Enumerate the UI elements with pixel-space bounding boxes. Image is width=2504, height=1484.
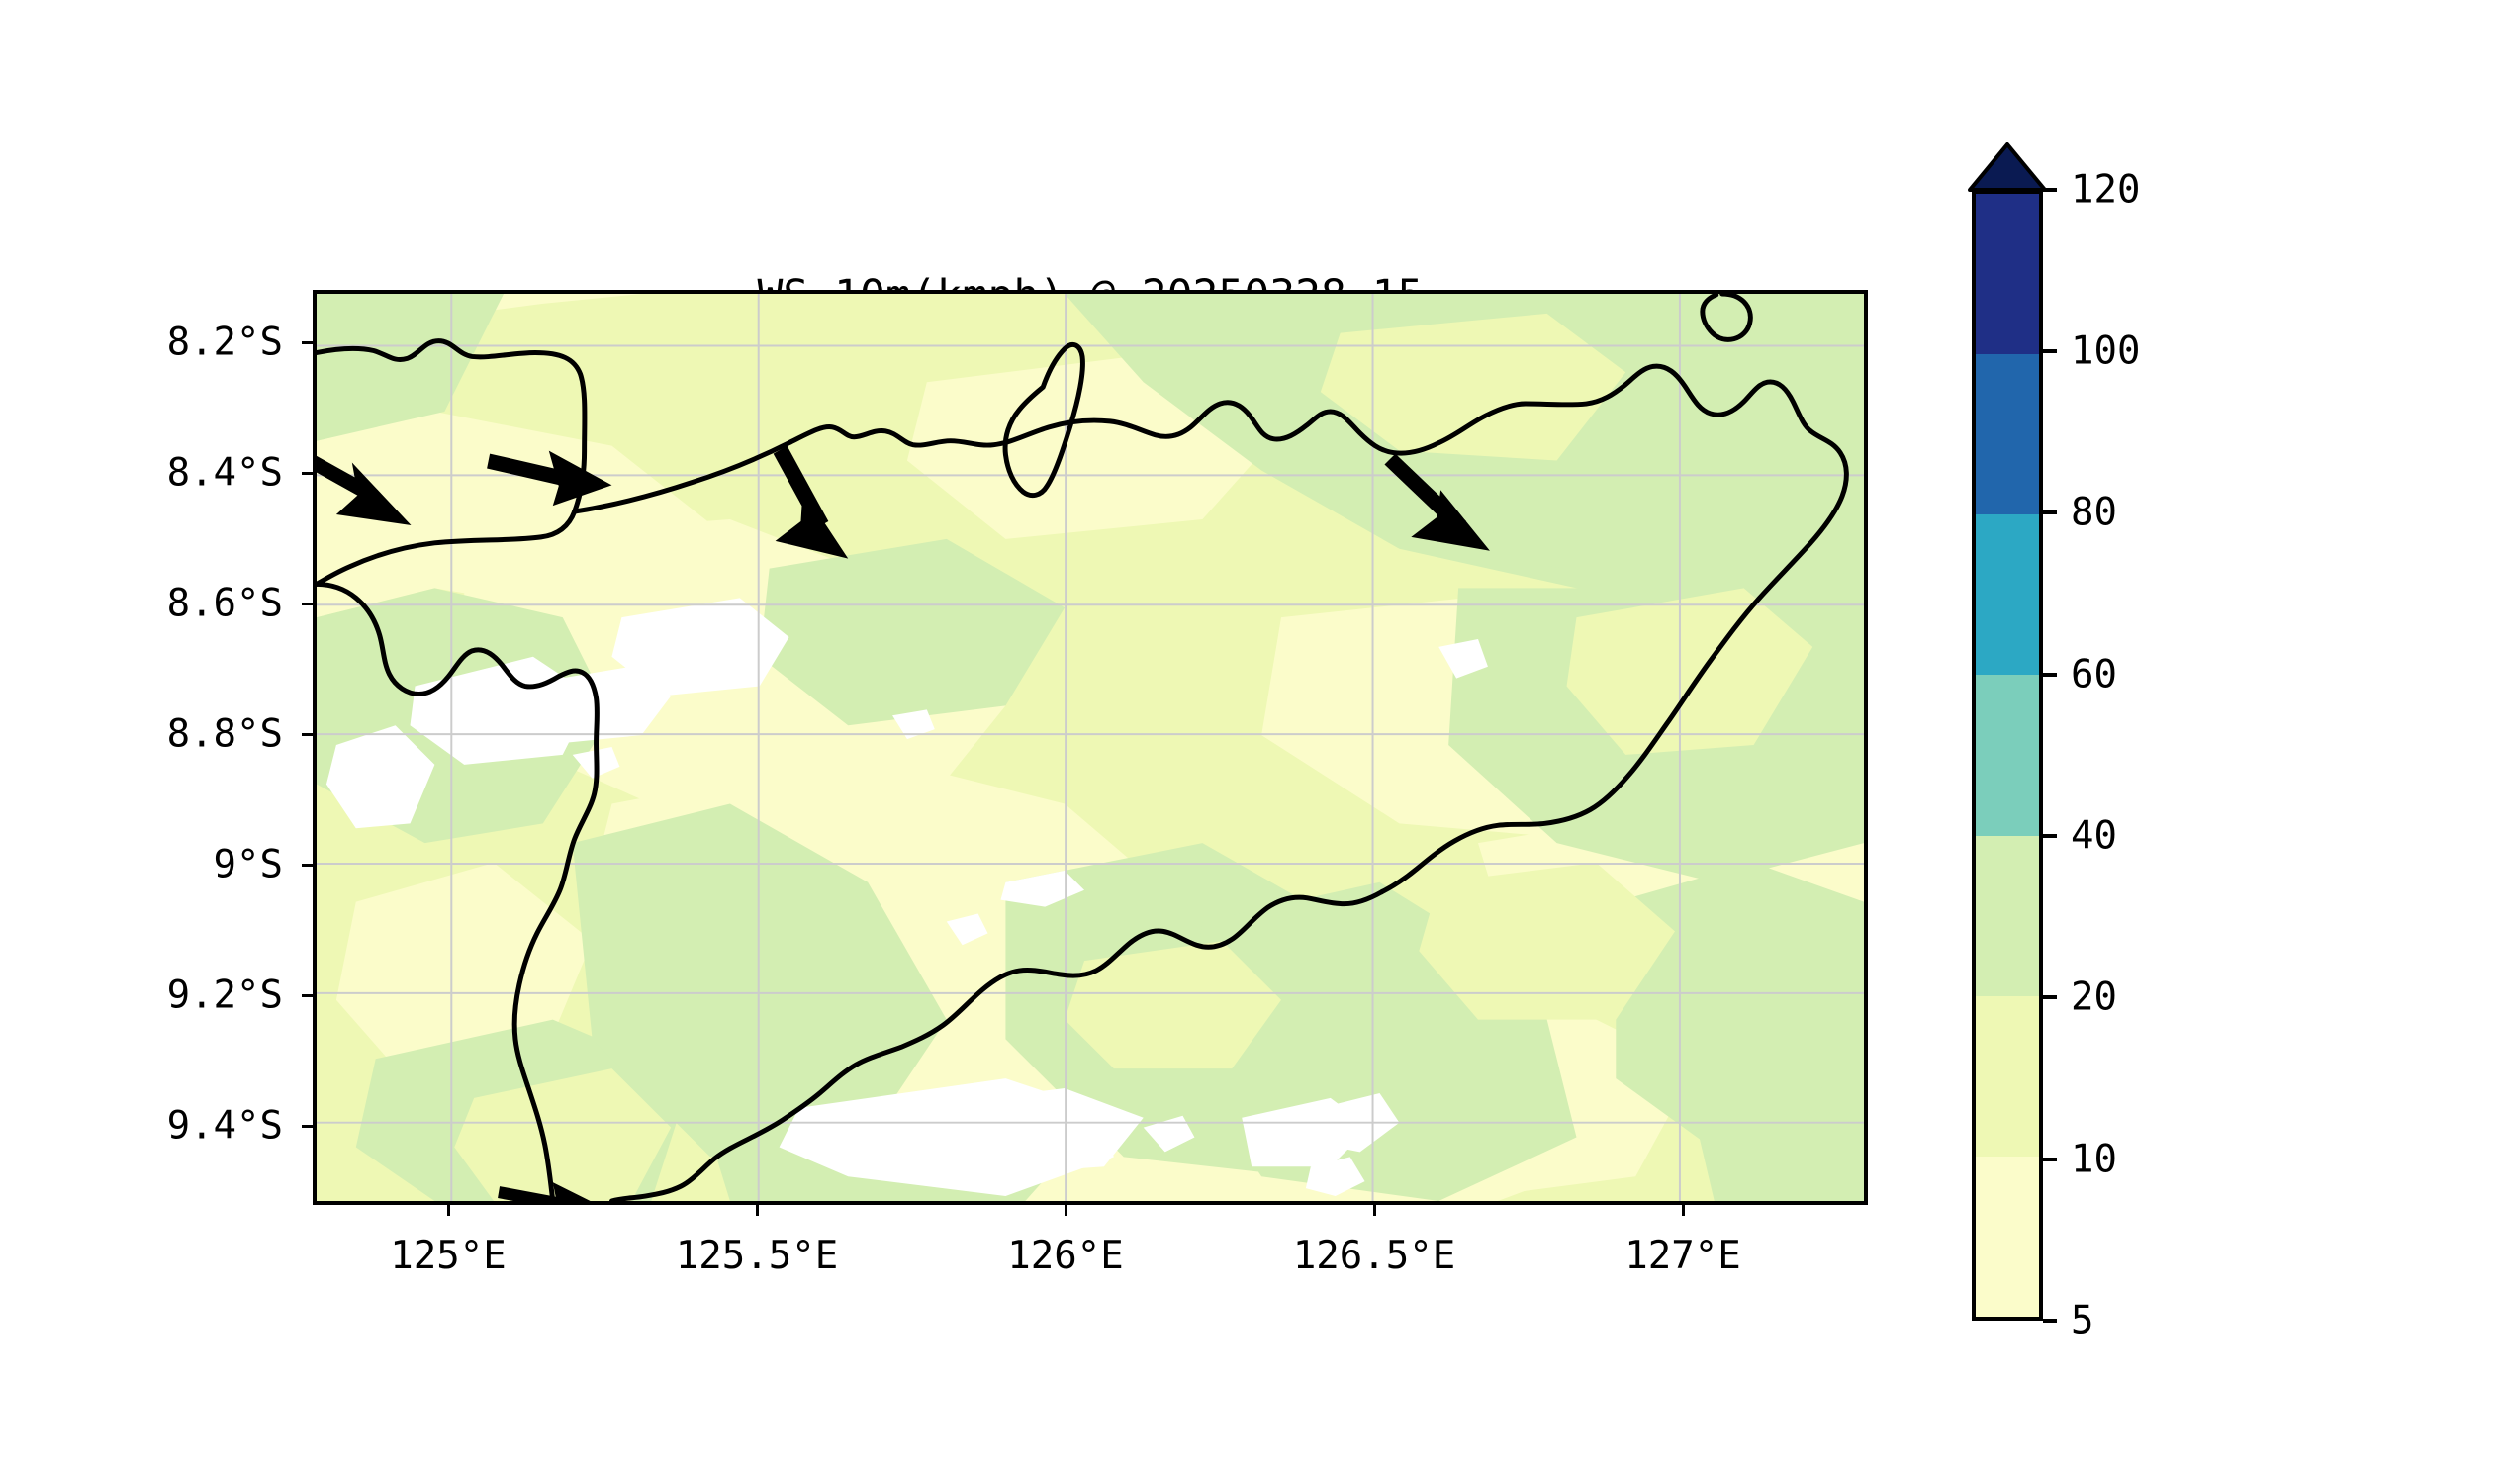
xtick-label-126p5e: 126.5°E <box>1226 1234 1523 1278</box>
xtick-mark-127e <box>1682 1205 1685 1216</box>
colorbar-band-60-80 <box>1976 514 2039 675</box>
colorbar-band-100-120 <box>1976 194 2039 354</box>
colorbar-label-100: 100 <box>2071 329 2140 374</box>
ytick-mark-9s <box>302 864 313 867</box>
colorbar-tick-100 <box>2043 349 2057 353</box>
ytick-label-9s: 9°S <box>95 843 283 887</box>
figure-canvas: WS-10m(kmph) @ 20250328_15 Simulation Ti… <box>0 0 2504 1484</box>
colorbar-body[interactable] <box>1972 190 2043 1321</box>
colorbar-band-80-100 <box>1976 354 2039 514</box>
ytick-mark-8p6s <box>302 603 313 605</box>
colorbar-band-10-20 <box>1976 996 2039 1157</box>
colorbar-label-5: 5 <box>2071 1299 2093 1344</box>
xtick-mark-126e <box>1065 1205 1067 1216</box>
colorbar-band-20-40 <box>1976 836 2039 996</box>
xtick-label-127e: 127°E <box>1534 1234 1831 1278</box>
ytick-mark-8p4s <box>302 472 313 475</box>
xtick-label-125e: 125°E <box>300 1234 597 1278</box>
ytick-label-8p8s: 8.8°S <box>95 712 283 757</box>
ytick-label-8p2s: 8.2°S <box>95 321 283 365</box>
colorbar-label-20: 20 <box>2071 975 2117 1020</box>
ytick-mark-9p2s <box>302 994 313 997</box>
ytick-label-9p2s: 9.2°S <box>95 974 283 1018</box>
ytick-mark-9p4s <box>302 1125 313 1128</box>
colorbar-label-10: 10 <box>2071 1138 2117 1182</box>
colorbar-tick-20 <box>2043 995 2057 999</box>
xtick-label-125p5e: 125.5°E <box>608 1234 905 1278</box>
colorbar-tick-80 <box>2043 510 2057 514</box>
colorbar-tick-40 <box>2043 834 2057 838</box>
map-clip <box>317 294 1864 1201</box>
xtick-mark-125e <box>447 1205 450 1216</box>
ytick-mark-8p8s <box>302 733 313 736</box>
colorbar[interactable]: 120 100 80 60 40 20 10 5 <box>1972 190 2043 1321</box>
colorbar-label-120: 120 <box>2071 168 2140 213</box>
xtick-mark-125p5e <box>756 1205 759 1216</box>
xtick-label-126e: 126°E <box>917 1234 1214 1278</box>
colorbar-tick-5 <box>2043 1319 2057 1323</box>
colorbar-label-40: 40 <box>2071 814 2117 859</box>
ytick-mark-8p2s <box>302 341 313 344</box>
colorbar-tick-60 <box>2043 673 2057 677</box>
colorbar-extend-max-arrow <box>1968 142 2047 192</box>
ytick-label-8p4s: 8.4°S <box>95 451 283 496</box>
colorbar-label-80: 80 <box>2071 491 2117 535</box>
ytick-label-8p6s: 8.6°S <box>95 582 283 626</box>
colorbar-band-40-60 <box>1976 675 2039 835</box>
colorbar-tick-120 <box>2043 188 2057 192</box>
wind-speed-contour-map <box>317 294 1864 1201</box>
xtick-mark-126p5e <box>1373 1205 1376 1216</box>
ytick-label-9p4s: 9.4°S <box>95 1104 283 1149</box>
colorbar-tick-10 <box>2043 1158 2057 1161</box>
colorbar-label-60: 60 <box>2071 653 2117 697</box>
map-plot-area[interactable] <box>313 290 1868 1205</box>
colorbar-band-5-10 <box>1976 1157 2039 1317</box>
